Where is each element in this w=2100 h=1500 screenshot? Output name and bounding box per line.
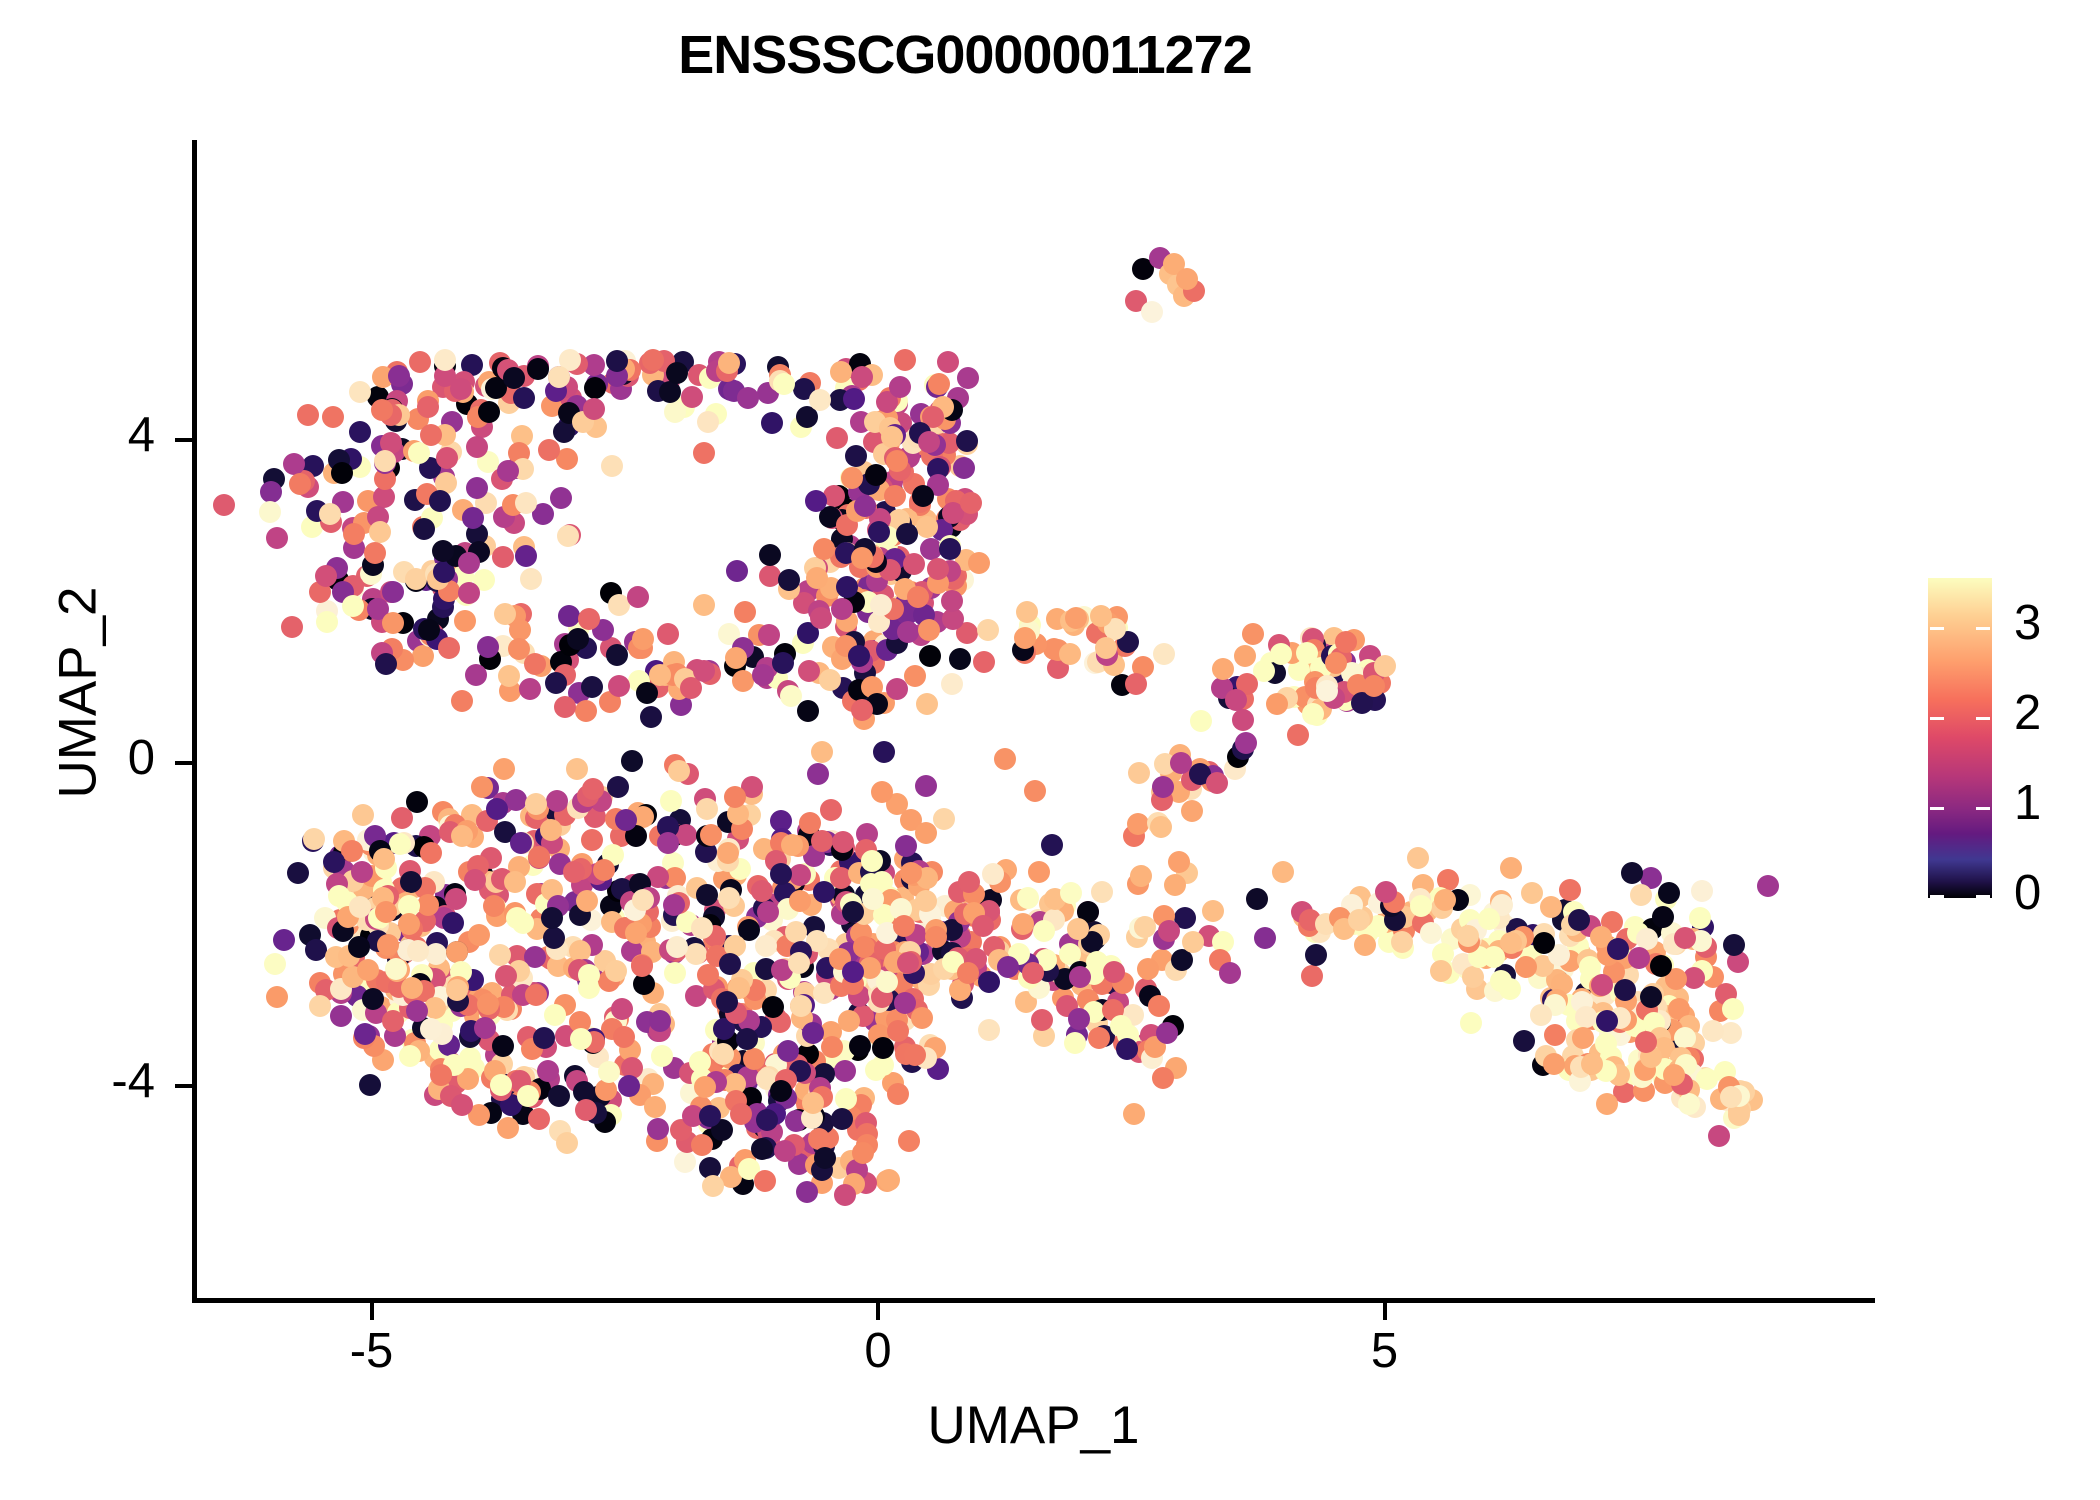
- scatter-point: [685, 985, 707, 1007]
- scatter-point: [843, 388, 865, 410]
- scatter-point: [802, 1132, 824, 1154]
- scatter-point: [554, 633, 576, 655]
- scatter-point: [606, 350, 628, 372]
- scatter-point: [1049, 962, 1071, 984]
- scatter-point: [886, 678, 908, 700]
- scatter-point: [1678, 1093, 1700, 1115]
- scatter-point: [1645, 953, 1667, 975]
- scatter-point: [1096, 644, 1118, 666]
- scatter-point: [694, 1076, 716, 1098]
- scatter-point: [566, 1070, 588, 1092]
- scatter-point: [473, 569, 495, 591]
- scatter-point: [1367, 915, 1389, 937]
- scatter-point: [726, 560, 748, 582]
- scatter-point: [546, 810, 568, 832]
- scatter-point: [879, 417, 901, 439]
- scatter-point: [945, 575, 967, 597]
- scatter-point: [939, 560, 961, 582]
- scatter-point: [446, 941, 468, 963]
- scatter-point: [641, 941, 663, 963]
- scatter-point: [1460, 928, 1482, 950]
- scatter-point: [434, 349, 456, 371]
- page-title: ENSSSCG00000011272: [0, 24, 1930, 86]
- scatter-point: [972, 915, 994, 937]
- scatter-point: [419, 967, 441, 989]
- scatter-point: [863, 640, 885, 662]
- scatter-point: [529, 1078, 551, 1100]
- scatter-point: [718, 838, 740, 860]
- scatter-point: [1603, 961, 1625, 983]
- scatter-point: [841, 913, 863, 935]
- scatter-point: [1206, 772, 1228, 794]
- scatter-point: [1052, 900, 1074, 922]
- scatter-point: [410, 915, 432, 937]
- scatter-point: [942, 608, 964, 630]
- scatter-point: [622, 874, 644, 896]
- scatter-point: [1394, 906, 1416, 928]
- scatter-point: [302, 830, 324, 852]
- scatter-point: [900, 809, 922, 831]
- scatter-point: [949, 509, 971, 531]
- scatter-point: [550, 651, 572, 673]
- scatter-point: [1234, 645, 1256, 667]
- scatter-point: [632, 628, 654, 650]
- scatter-point: [440, 441, 462, 463]
- scatter-point: [407, 408, 429, 430]
- scatter-point: [1609, 1011, 1631, 1033]
- scatter-point: [590, 790, 612, 812]
- scatter-point: [714, 1069, 736, 1091]
- scatter-point: [389, 988, 411, 1010]
- scatter-point: [1714, 1061, 1736, 1083]
- scatter-point: [751, 1138, 773, 1160]
- scatter-point: [902, 988, 924, 1010]
- scatter-point: [712, 1043, 734, 1065]
- scatter-point: [1582, 1008, 1604, 1030]
- scatter-point: [952, 569, 974, 591]
- scatter-point: [1534, 957, 1556, 979]
- scatter-point: [568, 959, 590, 981]
- scatter-point: [381, 895, 403, 917]
- scatter-point: [805, 490, 827, 512]
- scatter-point: [831, 839, 853, 861]
- scatter-point: [1642, 986, 1664, 1008]
- scatter-point: [1333, 681, 1355, 703]
- scatter-point: [834, 1060, 856, 1082]
- scatter-point: [926, 611, 948, 633]
- scatter-point: [1543, 1053, 1565, 1075]
- scatter-point: [1046, 608, 1068, 630]
- scatter-point: [793, 592, 815, 614]
- scatter-point: [734, 1149, 756, 1171]
- scatter-point: [854, 662, 876, 684]
- scatter-point: [452, 565, 474, 587]
- scatter-point: [897, 952, 919, 974]
- scatter-point: [332, 581, 354, 603]
- scatter-point: [283, 453, 305, 475]
- scatter-point: [1067, 918, 1089, 940]
- scatter-point: [913, 604, 935, 626]
- scatter-point: [500, 998, 522, 1020]
- scatter-point: [744, 972, 766, 994]
- scatter-point: [430, 1064, 452, 1086]
- scatter-point: [731, 969, 753, 991]
- scatter-point: [767, 356, 789, 378]
- scatter-point: [1077, 901, 1099, 923]
- scatter-point: [1581, 1053, 1603, 1075]
- scatter-point: [519, 1081, 541, 1103]
- scatter-point: [770, 810, 792, 832]
- scatter-point: [848, 1002, 870, 1024]
- scatter-point: [711, 988, 733, 1010]
- scatter-point: [386, 361, 408, 383]
- scatter-point: [960, 931, 982, 953]
- scatter-point: [873, 862, 895, 884]
- scatter-point: [847, 964, 869, 986]
- scatter-point: [732, 670, 754, 692]
- scatter-point: [821, 1036, 843, 1058]
- scatter-point: [1268, 634, 1290, 656]
- scatter-point: [1127, 873, 1149, 895]
- scatter-point: [889, 459, 911, 481]
- scatter-point: [1198, 761, 1220, 783]
- scatter-point: [455, 584, 477, 606]
- scatter-point: [393, 942, 415, 964]
- scatter-point: [794, 1062, 816, 1084]
- scatter-point: [909, 494, 931, 516]
- scatter-point: [941, 958, 963, 980]
- scatter-point: [919, 645, 941, 667]
- scatter-point: [869, 956, 891, 978]
- scatter-point: [484, 1060, 506, 1082]
- scatter-point: [1567, 935, 1589, 957]
- scatter-point: [427, 568, 449, 590]
- scatter-point: [332, 491, 354, 513]
- scatter-point: [1211, 677, 1233, 699]
- scatter-point: [1165, 959, 1187, 981]
- scatter-point: [585, 416, 607, 438]
- scatter-point: [729, 1155, 751, 1177]
- scatter-point: [309, 995, 331, 1017]
- scatter-point: [747, 1062, 769, 1084]
- scatter-point: [336, 891, 358, 913]
- scatter-point: [836, 610, 858, 632]
- scatter-point: [859, 952, 881, 974]
- scatter-point: [351, 861, 373, 883]
- scatter-point: [915, 822, 937, 844]
- scatter-point: [1151, 781, 1173, 803]
- scatter-point: [874, 938, 896, 960]
- scatter-point: [779, 967, 801, 989]
- scatter-point: [814, 1147, 836, 1169]
- scatter-point: [1316, 675, 1338, 697]
- scatter-point: [869, 547, 891, 569]
- scatter-point: [878, 886, 900, 908]
- scatter-point: [1682, 928, 1704, 950]
- scatter-point: [399, 860, 421, 882]
- scatter-point: [364, 542, 386, 564]
- scatter-point: [624, 631, 646, 653]
- scatter-point: [532, 503, 554, 525]
- scatter-point: [727, 977, 749, 999]
- scatter-point: [855, 1112, 877, 1134]
- scatter-point: [1309, 672, 1331, 694]
- scatter-point: [960, 492, 982, 514]
- scatter-point: [429, 490, 451, 512]
- scatter-point: [432, 966, 454, 988]
- scatter-point: [498, 392, 520, 414]
- scatter-point: [1323, 639, 1345, 661]
- scatter-point: [906, 426, 928, 448]
- scatter-point: [610, 825, 632, 847]
- scatter-point: [1335, 631, 1357, 653]
- scatter-point: [657, 623, 679, 645]
- scatter-point: [404, 489, 426, 511]
- scatter-point: [811, 830, 833, 852]
- scatter-point: [725, 864, 747, 886]
- scatter-point: [832, 677, 854, 699]
- scatter-point: [926, 376, 948, 398]
- scatter-point: [388, 365, 410, 387]
- scatter-point: [1627, 991, 1649, 1013]
- scatter-point: [419, 625, 441, 647]
- scatter-point: [1702, 966, 1724, 988]
- scatter-point: [942, 502, 964, 524]
- scatter-point: [1029, 911, 1051, 933]
- scatter-point: [1490, 890, 1512, 912]
- scatter-point: [995, 859, 1017, 881]
- scatter-point: [919, 903, 941, 925]
- scatter-point: [634, 886, 656, 908]
- scatter-point: [638, 887, 660, 909]
- scatter-point: [431, 1023, 453, 1045]
- scatter-point: [1638, 1044, 1660, 1066]
- scatter-point: [583, 1028, 605, 1050]
- scatter-point: [777, 968, 799, 990]
- scatter-point: [624, 899, 646, 921]
- scatter-point: [264, 953, 286, 975]
- scatter-point: [891, 513, 913, 535]
- scatter-point: [1412, 912, 1434, 934]
- scatter-point: [845, 920, 867, 942]
- scatter-point: [1182, 931, 1204, 953]
- scatter-point: [1334, 651, 1356, 673]
- scatter-point: [811, 1172, 833, 1194]
- scatter-point: [466, 523, 488, 545]
- scatter-point: [898, 1130, 920, 1152]
- scatter-point: [370, 996, 392, 1018]
- scatter-point: [909, 491, 931, 513]
- scatter-point: [890, 412, 912, 434]
- scatter-point: [340, 448, 362, 470]
- scatter-point: [309, 581, 331, 603]
- scatter-point: [637, 1068, 659, 1090]
- scatter-point: [842, 961, 864, 983]
- scatter-point: [1462, 922, 1484, 944]
- scatter-point: [1202, 765, 1224, 787]
- scatter-point: [956, 622, 978, 644]
- scatter-point: [353, 512, 375, 534]
- scatter-point: [794, 863, 816, 885]
- scatter-point: [1113, 1032, 1135, 1054]
- scatter-point: [459, 1047, 481, 1069]
- scatter-point: [737, 387, 759, 409]
- scatter-point: [425, 563, 447, 585]
- scatter-point: [354, 1023, 376, 1045]
- scatter-point: [876, 1170, 898, 1192]
- scatter-point: [813, 881, 835, 903]
- scatter-point: [738, 1158, 760, 1180]
- scatter-point: [483, 895, 505, 917]
- scatter-point: [1679, 1038, 1701, 1060]
- scatter-point: [1671, 1073, 1693, 1095]
- scatter-point: [853, 936, 875, 958]
- scatter-point: [765, 1007, 787, 1029]
- scatter-point: [342, 870, 364, 892]
- scatter-point: [924, 434, 946, 456]
- scatter-point: [978, 900, 1000, 922]
- scatter-point: [949, 979, 971, 1001]
- scatter-point: [732, 1010, 754, 1032]
- scatter-point: [1154, 753, 1176, 775]
- scatter-point: [1176, 862, 1198, 884]
- scatter-point: [676, 1131, 698, 1153]
- scatter-point: [1323, 655, 1345, 677]
- scatter-point: [793, 944, 815, 966]
- scatter-point: [1069, 966, 1091, 988]
- scatter-point: [1349, 667, 1371, 689]
- scatter-point: [768, 1084, 790, 1106]
- scatter-point: [743, 1032, 765, 1054]
- scatter-point: [386, 390, 408, 412]
- scatter-point: [833, 884, 855, 906]
- scatter-point: [890, 560, 912, 582]
- scatter-point: [903, 473, 925, 495]
- scatter-point: [452, 381, 474, 403]
- scatter-point: [381, 398, 403, 420]
- scatter-point: [878, 1169, 900, 1191]
- scatter-point: [878, 989, 900, 1011]
- scatter-point: [910, 403, 932, 425]
- scatter-point: [316, 600, 338, 622]
- scatter-point: [896, 927, 918, 949]
- scatter-point: [843, 1173, 865, 1195]
- scatter-point: [717, 1030, 739, 1052]
- scatter-point: [1024, 780, 1046, 802]
- scatter-point: [1696, 1068, 1718, 1090]
- scatter-point: [589, 1085, 611, 1107]
- scatter-point: [365, 908, 387, 930]
- scatter-point: [353, 1027, 375, 1049]
- scatter-point: [886, 450, 908, 472]
- scatter-point: [493, 758, 515, 780]
- scatter-point: [467, 406, 489, 428]
- scatter-point: [1302, 703, 1324, 725]
- scatter-point: [647, 380, 669, 402]
- scatter-point: [865, 464, 887, 486]
- scatter-point: [925, 926, 947, 948]
- scatter-point: [569, 940, 591, 962]
- scatter-point: [723, 380, 745, 402]
- scatter-point: [700, 824, 722, 846]
- scatter-point: [525, 807, 547, 829]
- scatter-point: [374, 450, 396, 472]
- scatter-point: [435, 472, 457, 494]
- scatter-point: [1728, 1100, 1750, 1122]
- scatter-point: [956, 430, 978, 452]
- scatter-point: [512, 458, 534, 480]
- scatter-point: [403, 440, 425, 462]
- scatter-point: [680, 1082, 702, 1104]
- scatter-point: [381, 638, 403, 660]
- scatter-point: [1341, 662, 1363, 684]
- scatter-point: [453, 371, 475, 393]
- scatter-point: [753, 1116, 775, 1138]
- scatter-point: [899, 941, 921, 963]
- scatter-point: [517, 1026, 539, 1048]
- scatter-point: [634, 931, 656, 953]
- scatter-point: [931, 519, 953, 541]
- scatter-point: [1624, 1015, 1646, 1037]
- scatter-point: [468, 924, 490, 946]
- scatter-point: [420, 1018, 442, 1040]
- scatter-point: [639, 916, 661, 938]
- scatter-point: [770, 832, 792, 854]
- scatter-point: [774, 926, 796, 948]
- scatter-point: [748, 624, 770, 646]
- scatter-point: [756, 1109, 778, 1131]
- scatter-point: [848, 679, 870, 701]
- scatter-point: [443, 975, 465, 997]
- scatter-point: [501, 984, 523, 1006]
- scatter-point: [610, 378, 632, 400]
- scatter-point: [1147, 812, 1169, 834]
- scatter-point: [421, 982, 443, 1004]
- scatter-point: [1649, 1027, 1671, 1049]
- scatter-point: [937, 488, 959, 510]
- scatter-point: [843, 631, 865, 653]
- scatter-point: [948, 881, 970, 903]
- scatter-point: [1628, 947, 1650, 969]
- scatter-point: [1614, 947, 1636, 969]
- scatter-point: [375, 937, 397, 959]
- scatter-point: [425, 943, 447, 965]
- scatter-point: [401, 977, 423, 999]
- scatter-point: [1673, 1005, 1695, 1027]
- scatter-point: [785, 921, 807, 943]
- scatter-point: [848, 645, 870, 667]
- scatter-point: [631, 637, 653, 659]
- scatter-point: [867, 519, 889, 541]
- scatter-point: [657, 832, 679, 854]
- scatter-point: [877, 526, 899, 548]
- scatter-point: [1132, 656, 1154, 678]
- scatter-point: [1558, 1059, 1580, 1081]
- scatter-point: [1640, 986, 1662, 1008]
- scatter-point: [788, 952, 810, 974]
- scatter-point: [328, 885, 350, 907]
- scatter-point: [525, 984, 547, 1006]
- scatter-point: [462, 969, 484, 991]
- scatter-point: [1462, 966, 1484, 988]
- scatter-point: [755, 979, 777, 1001]
- scatter-point: [550, 487, 572, 509]
- scatter-point: [894, 578, 916, 600]
- scatter-point: [789, 890, 811, 912]
- scatter-point: [775, 1069, 797, 1091]
- scatter-point: [582, 967, 604, 989]
- scatter-point: [915, 775, 937, 797]
